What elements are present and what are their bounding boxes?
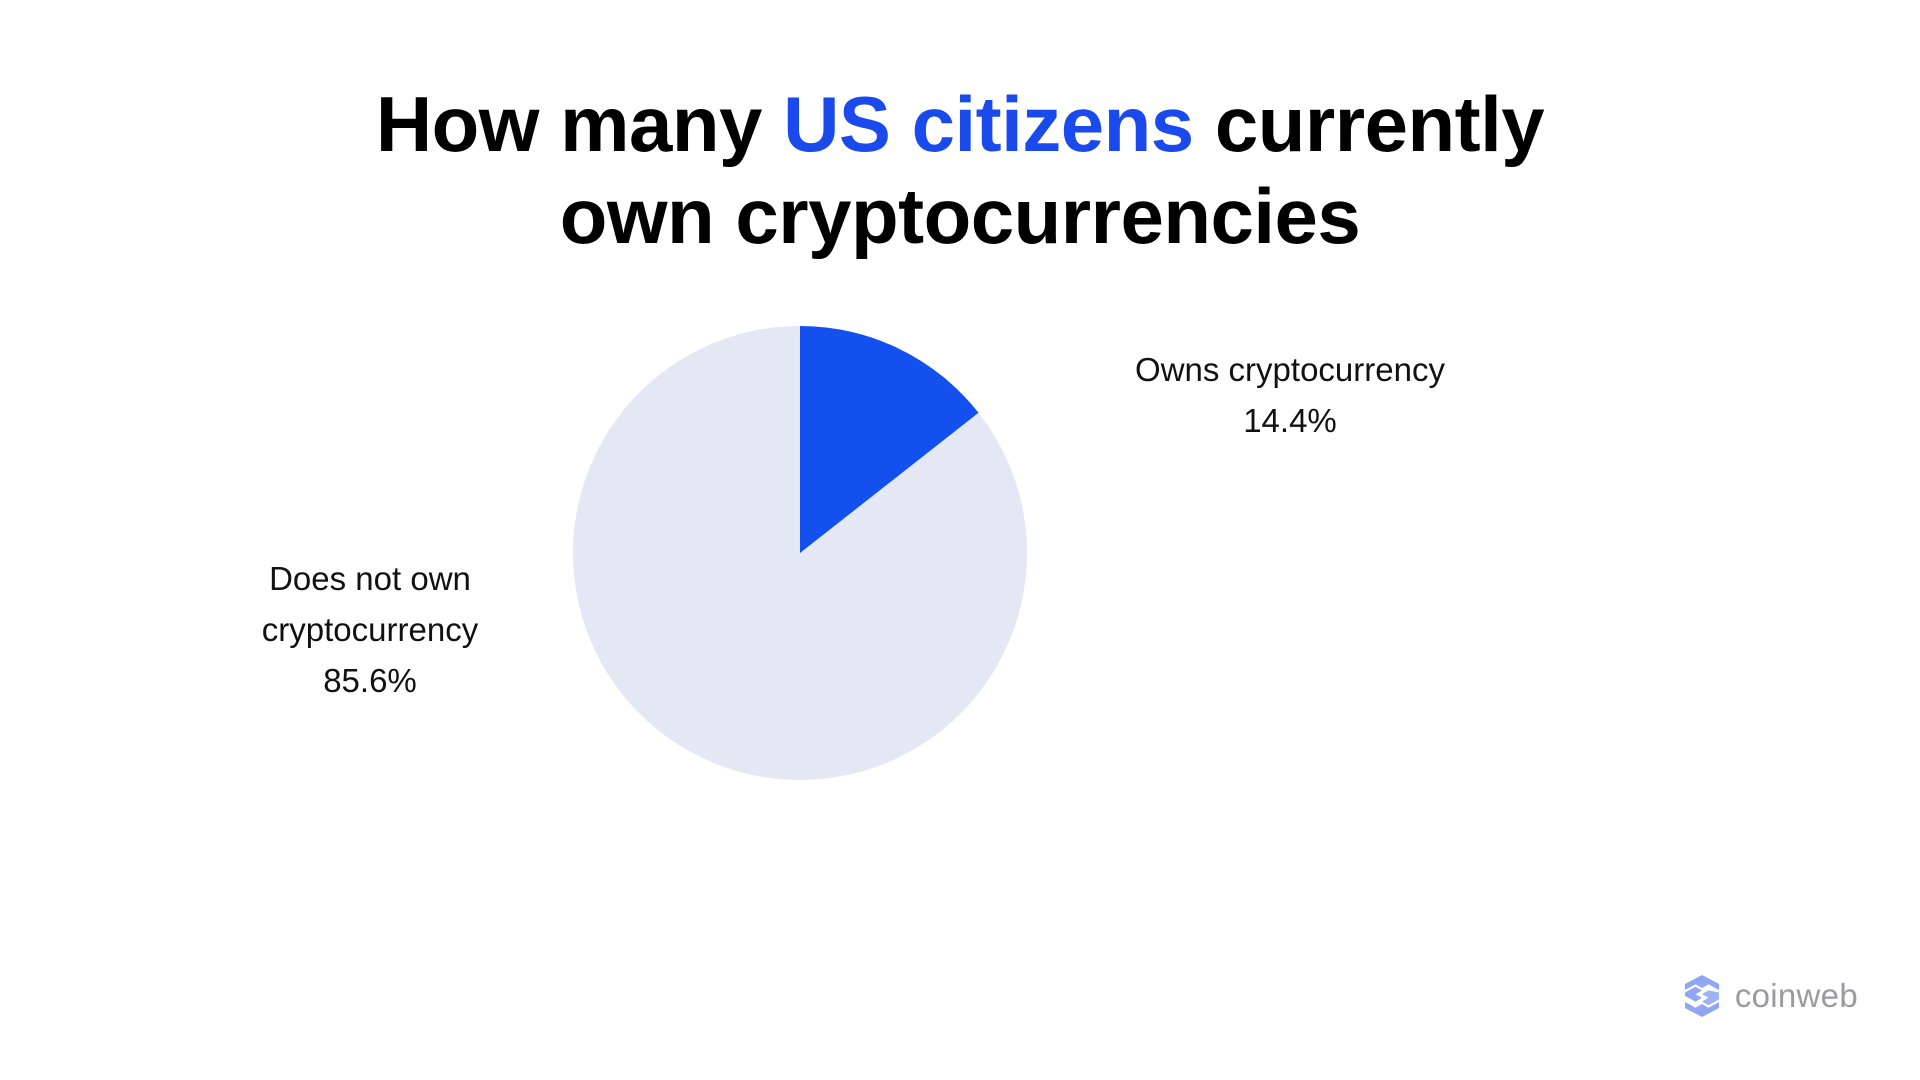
pie-chart-svg [573, 326, 1027, 780]
pie-label-does-not-own-name-line2: cryptocurrency [170, 604, 570, 655]
pie-label-owns-name: Owns cryptocurrency [1040, 344, 1540, 395]
coinweb-logo[interactable]: coinweb [1682, 974, 1858, 1018]
pie-label-owns: Owns cryptocurrency 14.4% [1040, 344, 1540, 446]
pie-label-does-not-own-value: 85.6% [170, 655, 570, 706]
coinweb-wordmark: coinweb [1735, 977, 1858, 1015]
pie-label-owns-value: 14.4% [1040, 395, 1540, 446]
pie-label-does-not-own: Does not own cryptocurrency 85.6% [170, 553, 570, 706]
infographic-canvas: How many US citizens currently own crypt… [0, 0, 1920, 1080]
coinweb-hexagon-c-icon [1682, 974, 1722, 1018]
pie-chart: Owns cryptocurrency 14.4% Does not own c… [0, 0, 1920, 1080]
pie-label-does-not-own-name-line1: Does not own [170, 553, 570, 604]
